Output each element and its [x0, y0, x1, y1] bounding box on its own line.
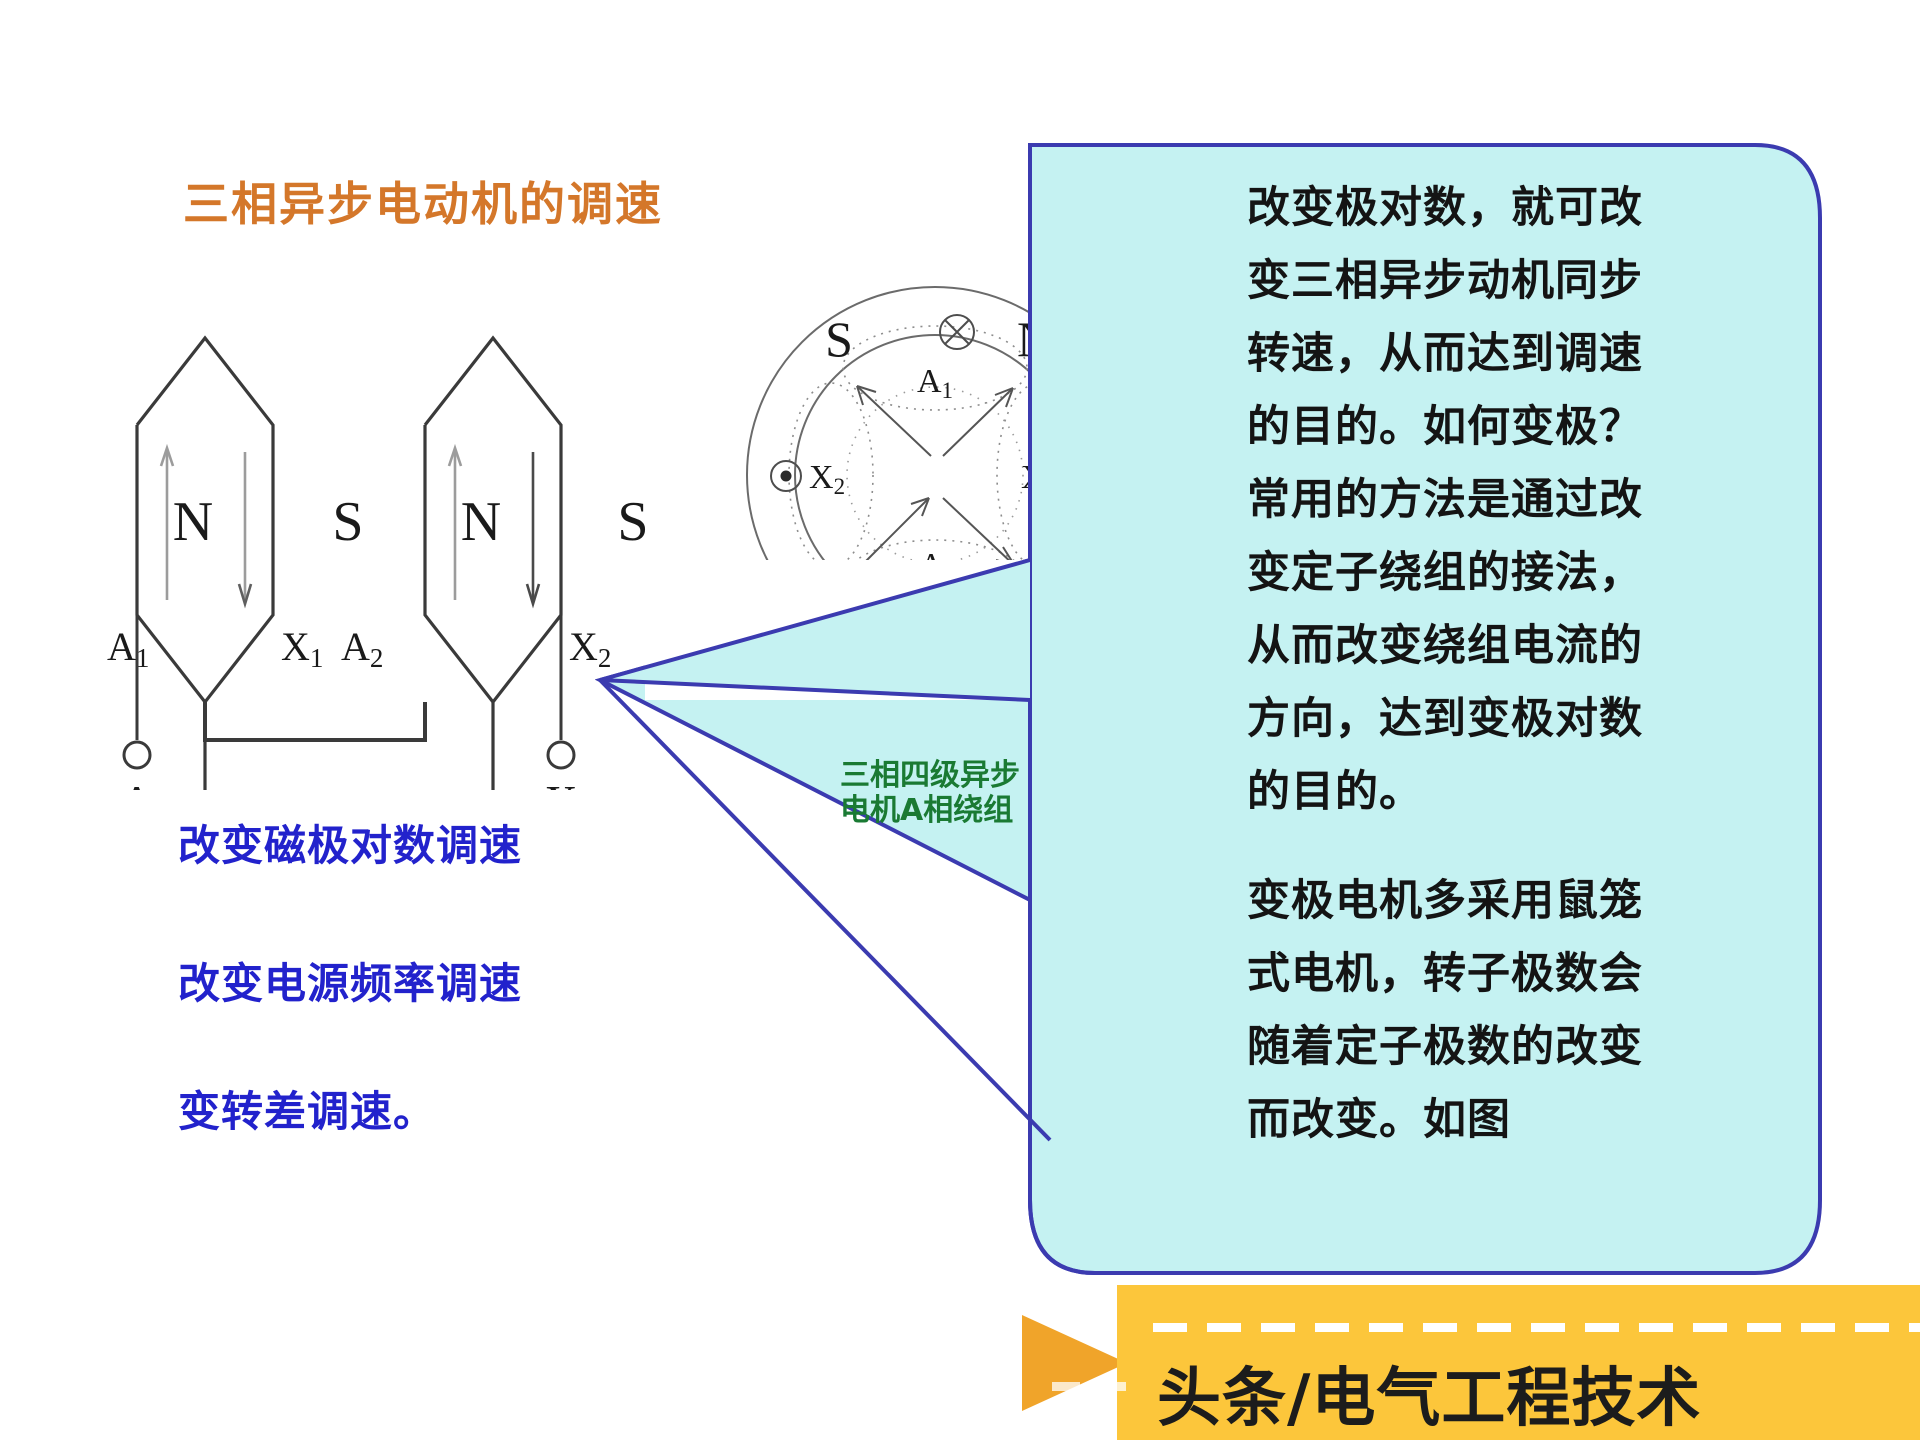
slide-canvas: 三相异步电动机的调速 改变极对数，就可改 变三相异步动机同步 转速，从而达到调速…: [0, 0, 1920, 1440]
callout-line: 随着定子极数的改变: [1247, 1011, 1807, 1084]
coil-terminal-label: A2: [341, 624, 383, 673]
banner-bar: 头条/电气工程技术: [1117, 1285, 1920, 1440]
callout-line: 的目的。: [1247, 756, 1807, 829]
pole-label: S: [332, 491, 363, 553]
callout-line: 转速，从而达到调速: [1247, 318, 1807, 391]
caption-line-1: 三相四级异步: [840, 758, 1020, 793]
supply-terminal-label: A: [120, 776, 153, 790]
callout-line: 式电机，转子极数会: [1247, 938, 1807, 1011]
callout-line: 变极电机多采用鼠笼: [1247, 865, 1807, 938]
callout-line: 常用的方法是通过改: [1247, 464, 1807, 537]
callout-line: 的目的。如何变极？: [1247, 391, 1807, 464]
stator-diagram-caption: 三相四级异步 电机A相绕组: [840, 758, 1020, 829]
pole-label: N: [461, 491, 501, 553]
banner-arrow-shape: [1022, 1315, 1127, 1411]
magnetic-pole-coil-diagram: N S N S A1 X1 A2 X2 A X: [95, 270, 655, 790]
page-title: 三相异步电动机的调速: [183, 168, 663, 234]
callout-line: 从而改变绕组电流的: [1247, 610, 1807, 683]
terminal-a-node: [124, 742, 150, 768]
callout-line: 方向，达到变极对数: [1247, 683, 1807, 756]
callout-paragraph-2: 变极电机多采用鼠笼 式电机，转子极数会 随着定子极数的改变 而改变。如图: [1247, 865, 1807, 1157]
banner-dashed-line-arrow: [1052, 1382, 1132, 1391]
method-item-pole-pairs: 改变磁极对数调速: [178, 812, 522, 873]
supply-terminal-label: X: [544, 776, 577, 790]
callout-line: 改变极对数，就可改: [1247, 172, 1807, 245]
coil-terminal-label: A1: [107, 624, 149, 673]
terminal-x-node: [548, 742, 574, 768]
pole-label: N: [173, 491, 213, 553]
callout-line: 变三相异步动机同步: [1247, 245, 1807, 318]
callout-line: 而改变。如图: [1247, 1084, 1807, 1157]
method-item-frequency: 改变电源频率调速: [178, 950, 522, 1011]
method-item-slip: 变转差调速。: [178, 1078, 436, 1139]
banner-dashed-line: [1153, 1323, 1920, 1332]
paragraph-spacer: [1247, 829, 1807, 865]
banner-label: 头条/电气工程技术: [1157, 1347, 1701, 1439]
callout-paragraph-1: 改变极对数，就可改 变三相异步动机同步 转速，从而达到调速 的目的。如何变极？ …: [1247, 172, 1807, 829]
caption-line-2: 电机A相绕组: [840, 793, 1020, 828]
coil-terminal-label: X1: [281, 624, 323, 673]
callout-line: 变定子绕组的接法，: [1247, 537, 1807, 610]
callout-text-block: 改变极对数，就可改 变三相异步动机同步 转速，从而达到调速 的目的。如何变极？ …: [1247, 172, 1807, 1157]
